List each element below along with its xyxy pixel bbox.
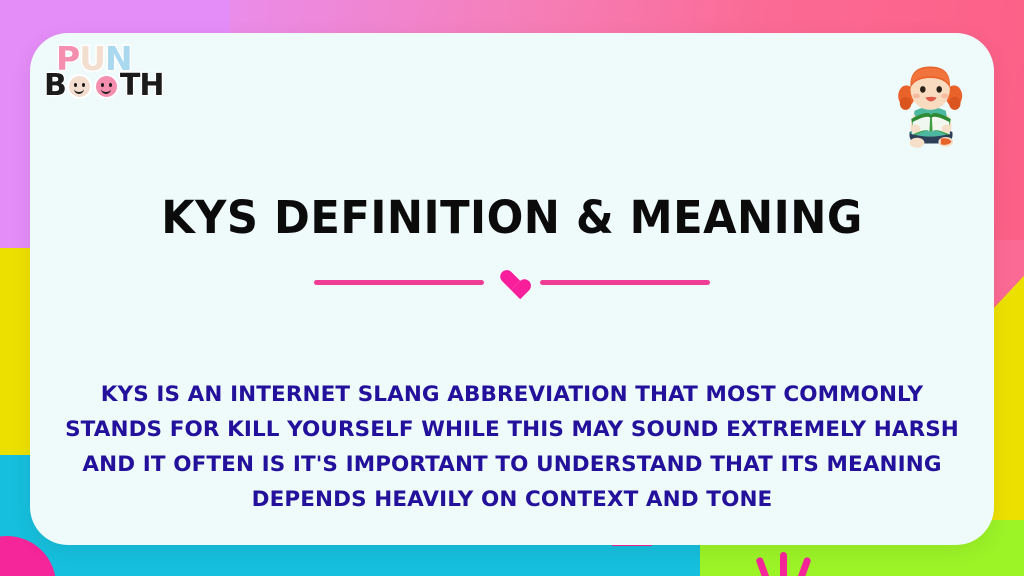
divider-line-right <box>540 280 710 285</box>
content-card: P U N B TH <box>30 33 994 545</box>
logo-letter-u: U <box>79 42 105 76</box>
logo-smiley-o-first <box>67 74 92 99</box>
divider-line-left <box>314 280 484 285</box>
heart-icon <box>500 271 524 293</box>
sparkle-ray-center <box>780 552 787 576</box>
definition-paragraph: KYS is an internet slang abbreviation th… <box>52 377 972 517</box>
smiley-mouth <box>101 87 111 94</box>
logo-line-booth: B TH <box>44 70 164 101</box>
heart-divider <box>30 271 994 293</box>
logo-letters-th: TH <box>120 70 164 101</box>
sparkle-decoration <box>762 548 822 576</box>
page-title: KYS Definition & Meaning <box>49 191 974 244</box>
girl-reading-book-icon <box>890 59 972 151</box>
logo-smiley-o-second <box>94 74 119 99</box>
sparkle-ray-right <box>796 556 811 576</box>
smiley-mouth <box>74 87 84 94</box>
logo-letter-b: B <box>44 70 66 101</box>
punbooth-logo[interactable]: P U N B TH <box>44 42 164 120</box>
poster-canvas: P U N B TH <box>0 0 1024 576</box>
